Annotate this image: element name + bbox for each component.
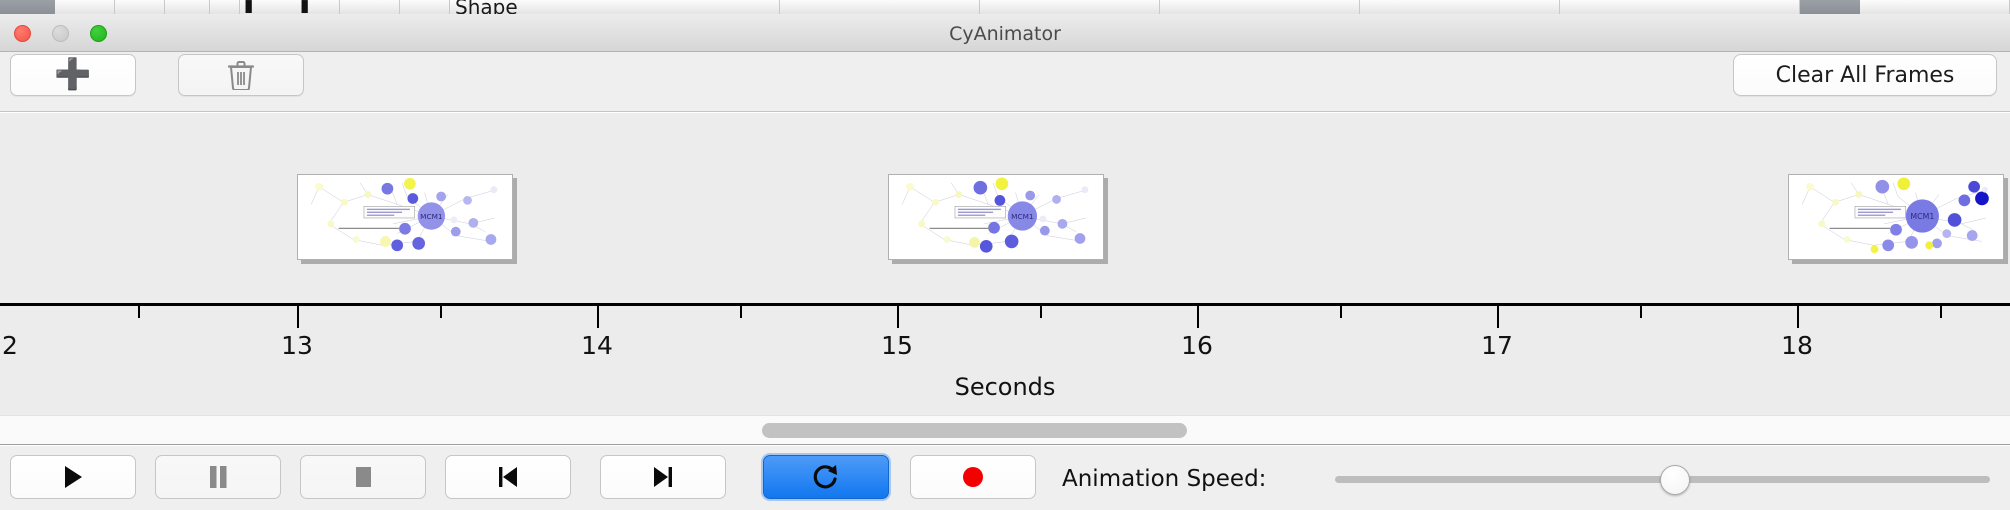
cyanimator-window: ▮ ▮ Shape CyAnimator ➕ Clear All Frames [0,0,2010,510]
svg-text:MCM1: MCM1 [420,212,442,221]
plus-icon: ➕ [54,60,91,90]
ruler-tick-minor [1340,306,1342,318]
bg-dark-segment [0,0,55,14]
record-icon [961,465,985,489]
ruler-label: 16 [1181,331,1213,360]
bg-segment [165,0,210,14]
bg-segment [240,0,340,14]
bg-segment [1560,0,1800,14]
stop-button[interactable] [300,455,426,499]
bg-dark-segment [1800,0,1860,14]
trash-icon [228,60,254,90]
animation-speed-label: Animation Speed: [1062,466,1266,492]
ruler-tick-minor [138,306,140,318]
loop-icon [812,463,840,491]
frames-area[interactable]: MCM1 [0,113,2010,303]
bg-glyph: ▮ [300,0,309,14]
bg-segment [400,0,450,14]
stop-icon [352,465,374,489]
ruler-label: 12 [0,331,18,360]
playback-controls-bar: Animation Speed: [0,446,2010,510]
bg-segment [1860,0,2010,14]
animation-speed-slider[interactable] [1335,476,1990,483]
ruler-tick-major [297,306,299,328]
add-frame-button[interactable]: ➕ [10,54,136,96]
ruler-tick-minor [1940,306,1942,318]
bg-segment [780,0,980,14]
scrollbar-thumb[interactable] [762,423,1187,438]
ruler-label: 15 [881,331,913,360]
ruler-tick-major [597,306,599,328]
svg-text:MCM1: MCM1 [1011,212,1033,221]
ruler-label: 14 [581,331,613,360]
ruler-axis-line [0,303,2010,306]
horizontal-scrollbar[interactable] [0,415,2010,445]
ruler-tick-major [1497,306,1499,328]
clear-all-frames-button[interactable]: Clear All Frames [1733,54,1997,96]
network-thumbnail-graphic: MCM1 [889,175,1103,259]
frame-thumbnail[interactable]: MCM1 [1788,174,2004,260]
skip-forward-icon [650,464,676,490]
pause-icon [207,464,229,490]
ruler-axis-title: Seconds [0,373,2010,401]
network-thumbnail-graphic: MCM1 [298,175,512,259]
svg-text:MCM1: MCM1 [1910,212,1934,221]
window-title: CyAnimator [0,23,2010,45]
loop-button[interactable] [763,455,889,499]
ruler-tick-major [1197,306,1199,328]
play-icon [61,464,85,490]
ruler-tick-minor [1640,306,1642,318]
frame-thumbnail[interactable]: MCM1 [297,174,513,260]
timeline-panel[interactable]: MCM1 [0,113,2010,415]
bg-glyph: ▮ [244,0,253,14]
ruler-tick-major [1797,306,1799,328]
bg-segment [1160,0,1360,14]
record-button[interactable] [910,455,1036,499]
ruler-tick-minor [740,306,742,318]
ruler-label: 17 [1481,331,1513,360]
ruler-tick-major [897,306,899,328]
ruler-tick-minor [440,306,442,318]
skip-start-button[interactable] [445,455,571,499]
clear-all-frames-label: Clear All Frames [1776,63,1955,88]
skip-end-button[interactable] [600,455,726,499]
time-ruler[interactable]: 12 13 14 15 16 17 18 Seconds [0,303,2010,415]
background-window-strip: ▮ ▮ Shape [0,0,2010,14]
frame-thumbnail[interactable]: MCM1 [888,174,1104,260]
bg-segment [980,0,1160,14]
play-button[interactable] [10,455,136,499]
animation-speed-slider-thumb[interactable] [1660,465,1690,495]
background-window-label: Shape [455,0,518,14]
ruler-tick-minor [1040,306,1042,318]
ruler-label: 18 [1781,331,1813,360]
skip-back-icon [495,464,521,490]
pause-button[interactable] [155,455,281,499]
network-thumbnail-graphic: MCM1 [1789,175,2003,259]
bg-segment [55,0,115,14]
bg-segment [1360,0,1560,14]
bg-segment [340,0,400,14]
delete-frame-button[interactable] [178,54,304,96]
titlebar: CyAnimator [0,14,2010,52]
bg-segment [210,0,240,14]
bg-segment [115,0,165,14]
ruler-label: 13 [281,331,313,360]
